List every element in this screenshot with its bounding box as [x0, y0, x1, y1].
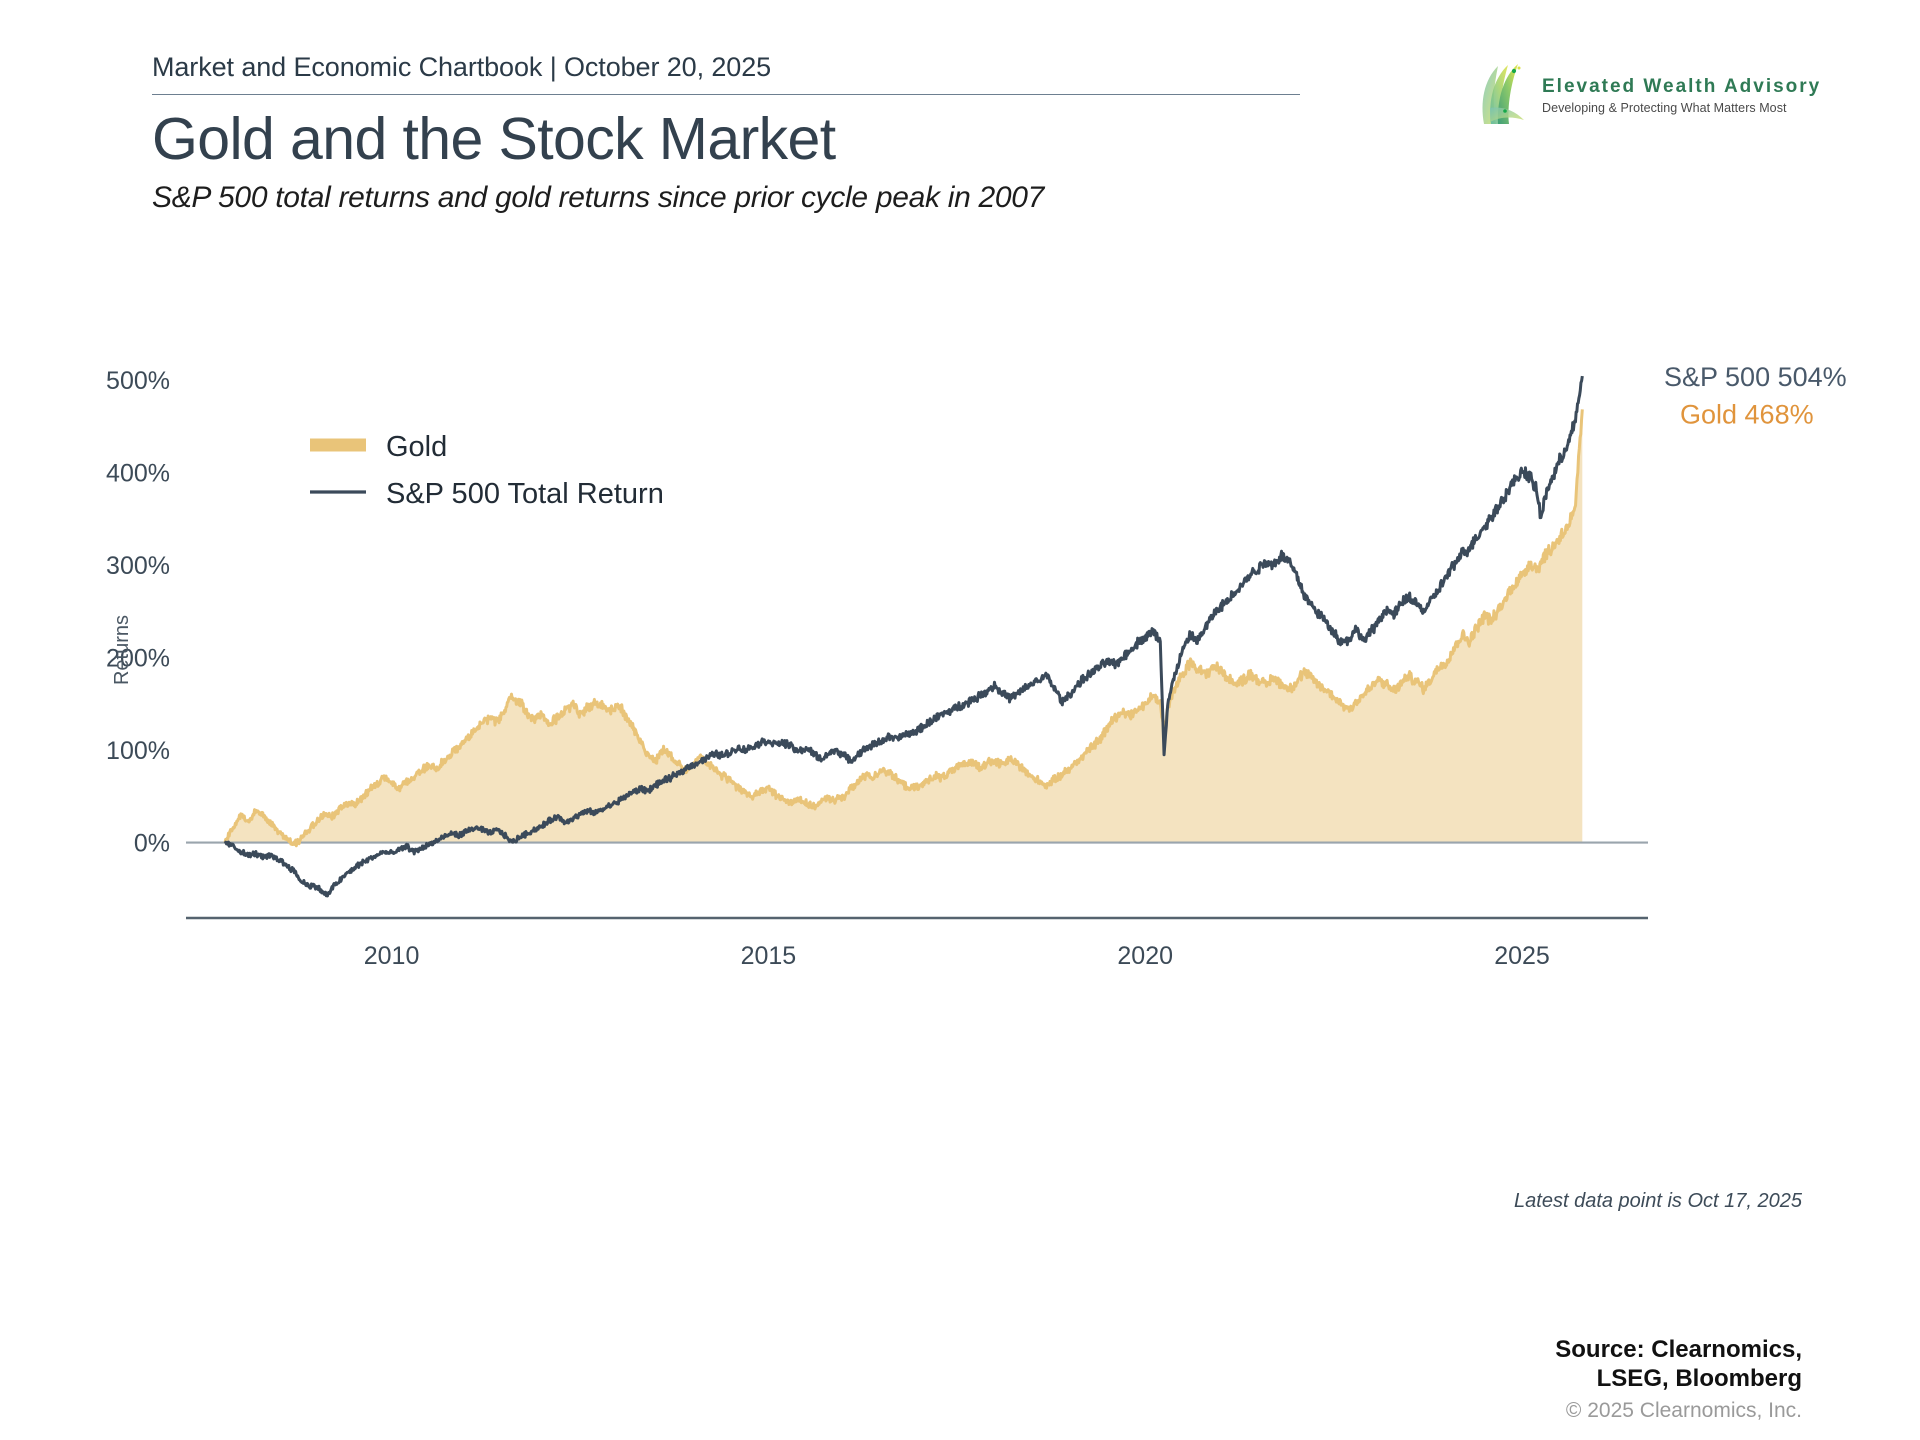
logo-company-name: Elevated Wealth Advisory	[1542, 76, 1821, 98]
copyright-notice: © 2025 Clearnomics, Inc.	[1382, 1399, 1802, 1423]
sp500-end-label: S&P 500 504%	[1664, 362, 1847, 392]
chart-container: 0%100%200%300%400%500% 2010201520202025 …	[0, 300, 1920, 1140]
y-tick-0%: 0%	[134, 830, 170, 858]
y-axis-title-text: Returns	[111, 615, 133, 685]
legend-label-sp500: S&P 500 Total Return	[386, 478, 664, 510]
x-tick-2025: 2025	[1494, 942, 1550, 970]
y-tick-500%: 500%	[106, 367, 170, 395]
header-divider	[152, 94, 1300, 95]
logo-tagline: Developing & Protecting What Matters Mos…	[1542, 101, 1821, 115]
source-block: Source: Clearnomics, LSEG, Bloomberg © 2…	[1382, 1335, 1802, 1423]
brand-logo: Elevated Wealth Advisory Developing & Pr…	[1478, 62, 1821, 128]
x-tick-2010: 2010	[364, 942, 420, 970]
page-title: Gold and the Stock Market	[152, 109, 1302, 170]
y-tick-300%: 300%	[106, 552, 170, 580]
latest-data-point-note: Latest data point is Oct 17, 2025	[1514, 1190, 1802, 1213]
y-axis-tick-labels: 0%100%200%300%400%500%	[106, 367, 170, 858]
series-end-labels: S&P 500 504%Gold 468%	[1664, 362, 1847, 429]
leaf-wing-logo-icon	[1478, 62, 1532, 128]
logo-text-block: Elevated Wealth Advisory Developing & Pr…	[1542, 76, 1821, 115]
page-header: Market and Economic Chartbook | October …	[152, 52, 1302, 215]
chartbook-breadcrumb: Market and Economic Chartbook | October …	[152, 52, 1302, 83]
x-axis-tick-labels: 2010201520202025	[364, 942, 1550, 970]
returns-chart: 0%100%200%300%400%500% 2010201520202025 …	[0, 300, 1920, 1140]
y-axis-title: Returns	[111, 615, 133, 685]
y-tick-100%: 100%	[106, 737, 170, 765]
x-tick-2020: 2020	[1117, 942, 1173, 970]
gold-end-label: Gold 468%	[1680, 399, 1814, 429]
x-tick-2015: 2015	[741, 942, 797, 970]
legend-label-gold: Gold	[386, 431, 447, 463]
y-tick-400%: 400%	[106, 459, 170, 487]
page-subtitle: S&P 500 total returns and gold returns s…	[152, 181, 1302, 215]
source-citation: Source: Clearnomics, LSEG, Bloomberg	[1382, 1335, 1802, 1394]
chart-legend: GoldS&P 500 Total Return	[310, 431, 664, 510]
